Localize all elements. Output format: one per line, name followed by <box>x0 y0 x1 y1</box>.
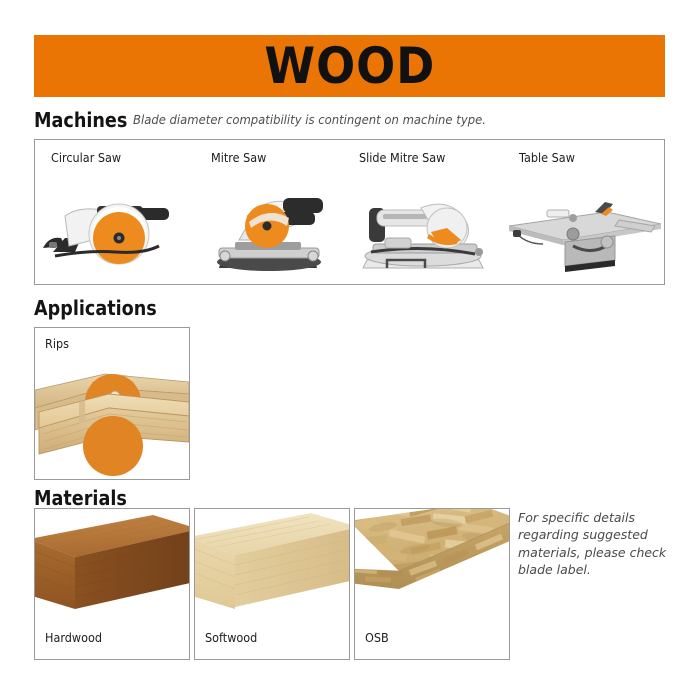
hardwood-block-image <box>35 509 189 621</box>
page-title: WOOD <box>264 41 435 91</box>
machine-item-table-saw: Table Saw <box>503 140 666 284</box>
application-item-rips: Rips <box>34 327 190 480</box>
mitre-saw-image <box>195 182 343 278</box>
wood-blade-spec-sheet: WOOD Machines Blade diameter compatibili… <box>0 0 700 700</box>
material-item-osb: OSB <box>354 508 510 660</box>
material-label: OSB <box>365 630 389 645</box>
material-item-hardwood: Hardwood <box>34 508 190 660</box>
softwood-block-image <box>195 509 349 621</box>
machines-heading: Machines <box>34 108 127 132</box>
machine-label: Mitre Saw <box>211 150 266 165</box>
materials-heading: Materials <box>34 486 127 510</box>
material-label: Softwood <box>205 630 257 645</box>
machine-label: Slide Mitre Saw <box>359 150 445 165</box>
header-banner: WOOD <box>34 35 665 97</box>
machine-item-slide-mitre-saw: Slide Mitre Saw <box>343 140 503 284</box>
circular-saw-image <box>35 182 195 278</box>
material-label: Hardwood <box>45 630 102 645</box>
table-saw-image <box>503 182 666 278</box>
rip-cut-image <box>35 350 189 478</box>
machine-label: Circular Saw <box>51 150 121 165</box>
machines-panel: Circular Saw <box>34 139 665 285</box>
applications-heading: Applications <box>34 296 157 320</box>
application-label: Rips <box>45 336 69 351</box>
machines-note: Blade diameter compatibility is continge… <box>133 112 486 127</box>
osb-board-image <box>355 509 509 621</box>
machine-item-mitre-saw: Mitre Saw <box>195 140 343 284</box>
machine-item-circular-saw: Circular Saw <box>35 140 195 284</box>
material-item-softwood: Softwood <box>194 508 350 660</box>
materials-note: For specific details regarding suggested… <box>518 509 688 578</box>
machine-label: Table Saw <box>519 150 575 165</box>
slide-mitre-saw-image <box>343 182 503 278</box>
